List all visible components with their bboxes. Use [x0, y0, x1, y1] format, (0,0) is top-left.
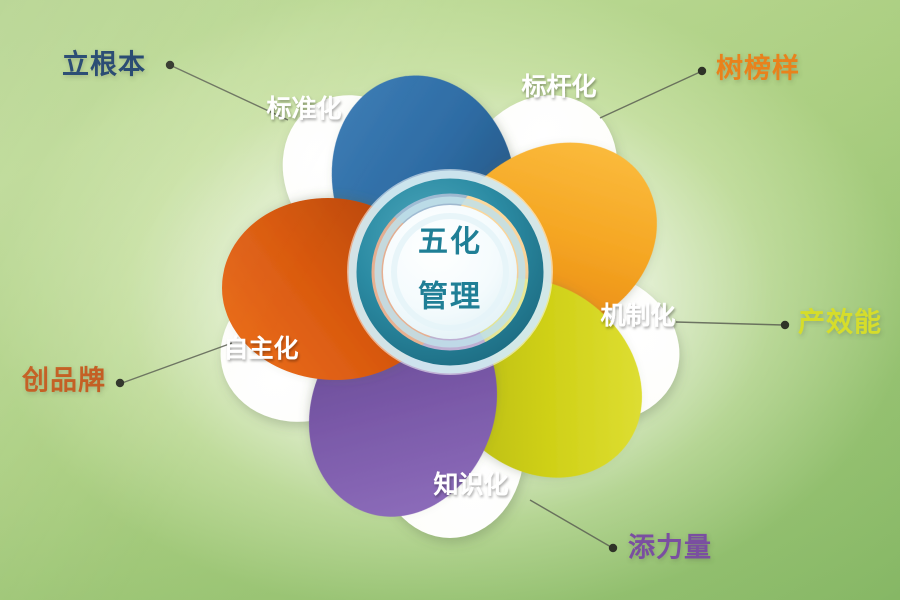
- callout-build-foundation[interactable]: 立根本: [62, 49, 146, 81]
- lead-line-create-brand: [122, 343, 232, 383]
- lead-dot-produce-efficiency: [781, 321, 789, 329]
- lead-line-set-example: [600, 72, 700, 118]
- callout-create-brand[interactable]: 创品牌: [21, 366, 106, 397]
- petal-knowledgeization-label: 知识化: [433, 470, 508, 499]
- lead-dot-build-foundation: [166, 61, 174, 69]
- diagram-canvas: 标准化 标杆化 机制化 知识化 自主化 五化 管理: [0, 0, 900, 600]
- callout-produce-efficiency[interactable]: 产效能: [798, 307, 882, 339]
- petal-benchmarking-label: 标杆化: [521, 72, 596, 101]
- lead-line-add-strength: [530, 500, 611, 547]
- petal-autonomization-label: 自主化: [223, 334, 298, 363]
- center-title-line2: 管理: [418, 280, 482, 315]
- lead-dot-create-brand: [116, 379, 124, 387]
- lead-dot-set-example: [698, 67, 706, 75]
- callout-set-example[interactable]: 树榜样: [716, 53, 800, 85]
- lead-dot-add-strength: [609, 544, 617, 552]
- center-title-line1: 五化: [418, 225, 482, 260]
- petal-standardization-label: 标准化: [266, 94, 341, 123]
- petal-mechanization-label: 机制化: [600, 301, 675, 330]
- center-hub[interactable]: 五化 管理: [347, 169, 553, 375]
- callout-add-strength[interactable]: 添力量: [628, 533, 712, 564]
- lead-line-produce-efficiency: [676, 322, 783, 325]
- five-化-management-petal-diagram: 标准化 标杆化 机制化 知识化 自主化 五化 管理: [0, 0, 900, 600]
